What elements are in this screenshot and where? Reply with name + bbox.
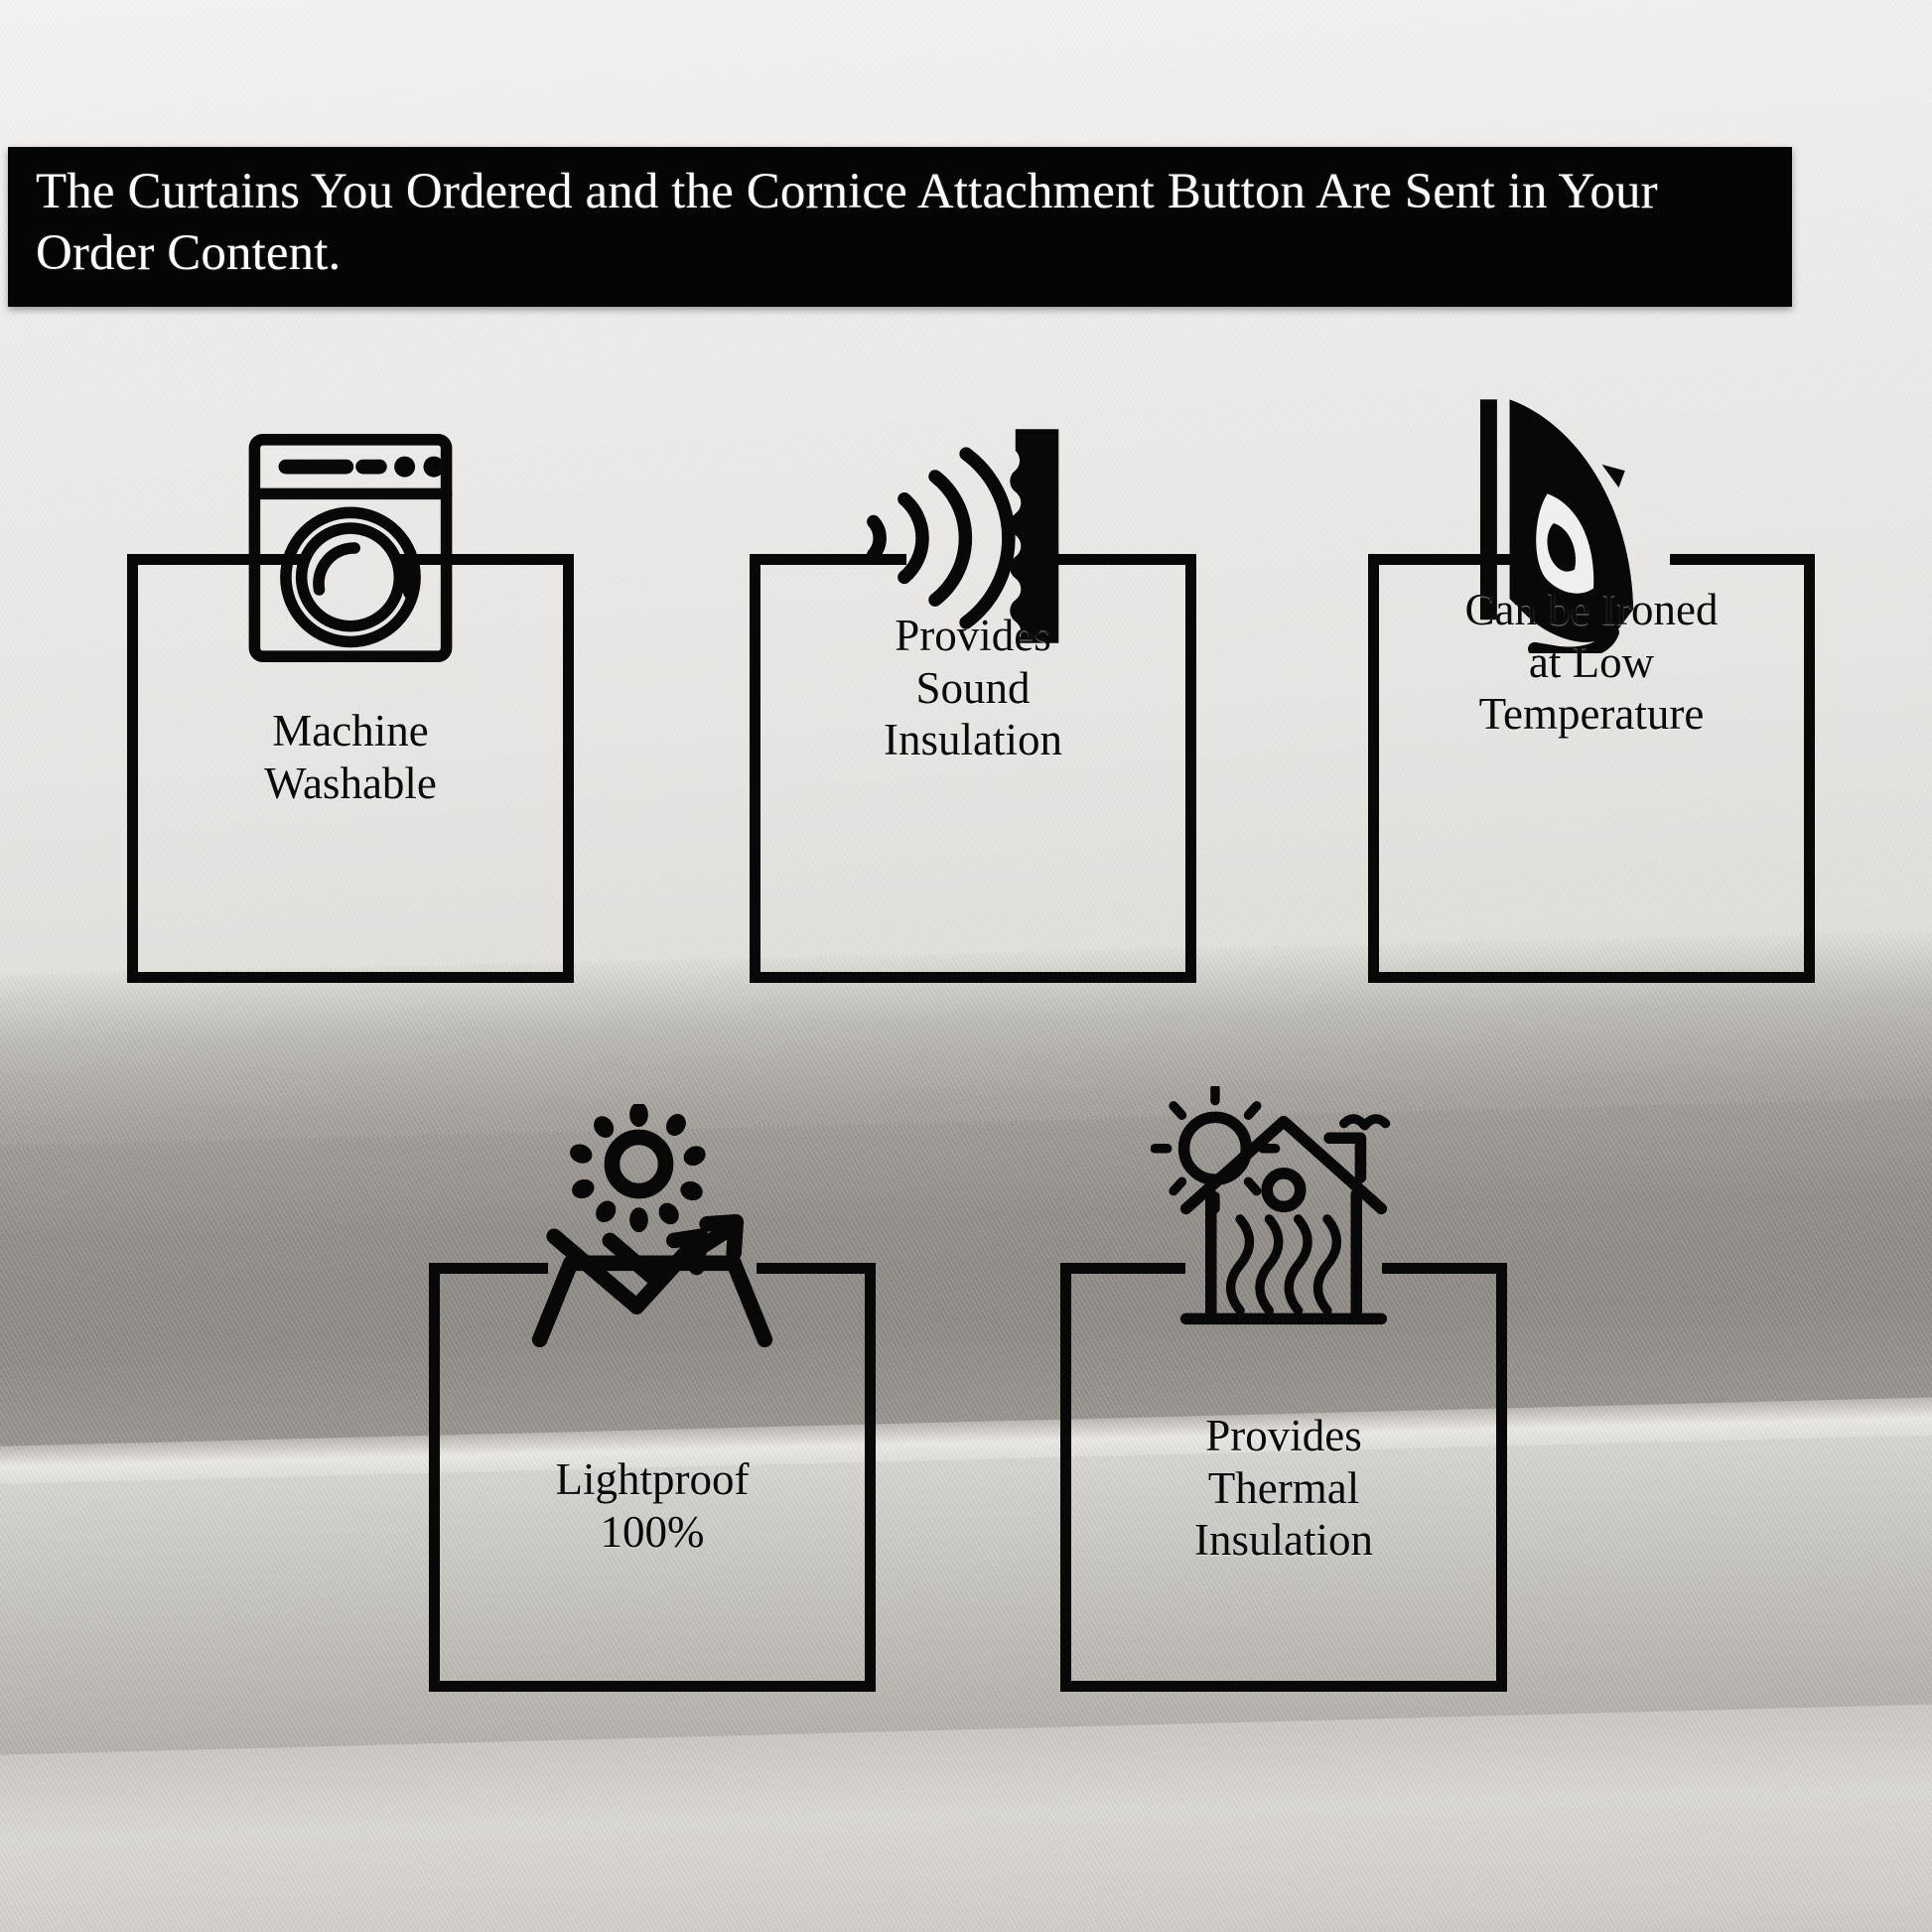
feature-card-lightproof[interactable]: Lightproof 100% [429,1263,876,1692]
label-line: Temperature [1368,688,1815,741]
card-label-lightproof: Lightproof 100% [429,1453,876,1558]
card-label-machine-washable: Machine Washable [127,705,574,809]
label-line: at Low [1368,636,1815,689]
feature-card-thermal-insulation[interactable]: Provides Thermal Insulation [1060,1263,1507,1692]
banner-text: The Curtains You Ordered and the Cornice… [36,161,1770,284]
card-label-low-temperature-iron: Can be Ironed at Low Temperature [1368,584,1815,741]
label-line: Provides [750,610,1196,662]
header-banner: The Curtains You Ordered and the Cornice… [8,147,1792,307]
card-label-thermal-insulation: Provides Thermal Insulation [1060,1410,1507,1567]
label-line: Lightproof [429,1453,876,1506]
label-line: Insulation [1060,1514,1507,1567]
label-line: 100% [429,1506,876,1559]
label-line: Washable [127,758,574,810]
feature-card-sound-insulation[interactable]: Provides Sound Insulation [750,554,1196,983]
feature-card-low-temperature-iron[interactable]: Can be Ironed at Low Temperature [1368,554,1815,983]
label-line: Thermal [1060,1462,1507,1515]
washing-machine-icon [246,431,455,665]
feature-card-machine-washable[interactable]: Machine Washable [127,554,574,983]
label-line: Can be Ironed [1368,584,1815,636]
house-heat-waves-icon [1151,1086,1417,1356]
label-line: Provides [1060,1410,1507,1462]
infographic-canvas: The Curtains You Ordered and the Cornice… [0,0,1932,1932]
label-line: Sound [750,662,1196,715]
sun-reflecting-fabric-icon [523,1104,781,1352]
label-line: Insulation [750,714,1196,766]
card-label-sound-insulation: Provides Sound Insulation [750,610,1196,766]
label-line: Machine [127,705,574,758]
